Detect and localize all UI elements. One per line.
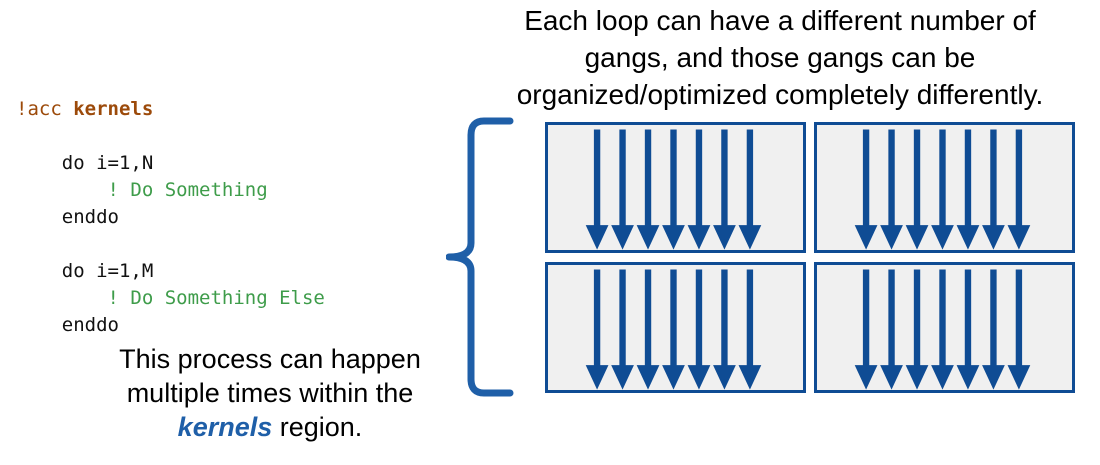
gang-heading: Each loop can have a different number of… xyxy=(462,2,1098,113)
gang-arrow xyxy=(688,270,711,390)
code-line: ! Do Something Else xyxy=(16,285,325,312)
gang-grid xyxy=(545,122,1075,394)
gang-heading-line-1: Each loop can have a different number of xyxy=(462,2,1098,39)
code-caption-line-1: This process can happen xyxy=(70,342,470,376)
code-token-directive-kw: kernels xyxy=(73,98,153,120)
gang-arrow xyxy=(957,270,980,390)
code-block: !acc kernels do i=1,N ! Do Something end… xyxy=(16,96,325,339)
gang-arrow xyxy=(982,130,1005,250)
code-token-plain: enddo xyxy=(16,206,119,228)
gang-arrow xyxy=(611,130,634,250)
left-curly-brace-icon xyxy=(446,116,516,398)
code-caption-line-3-rest: region. xyxy=(272,412,362,442)
gang-arrow-layer xyxy=(548,125,809,256)
gang-arrow xyxy=(982,270,1005,390)
gang-arrow xyxy=(906,270,929,390)
gang-arrow xyxy=(637,130,660,250)
code-line xyxy=(16,231,325,258)
gang-box-top-left xyxy=(545,122,806,253)
gang-arrow xyxy=(637,270,660,390)
gang-box-bottom-left xyxy=(545,262,806,393)
gang-arrow xyxy=(586,270,609,390)
code-token-comment: ! Do Something xyxy=(16,179,268,201)
gang-arrow xyxy=(662,130,685,250)
gang-arrow-layer xyxy=(817,125,1078,256)
gang-arrow xyxy=(931,130,954,250)
gang-box-bottom-right xyxy=(814,262,1075,393)
gang-arrow-layer xyxy=(817,265,1078,396)
gang-heading-line-2: gangs, and those gangs can be xyxy=(462,39,1098,76)
code-token-directive-mark: !acc xyxy=(16,98,73,120)
code-line: !acc kernels xyxy=(16,96,325,123)
gang-arrow xyxy=(957,130,980,250)
gang-arrow xyxy=(855,270,878,390)
kernels-keyword: kernels xyxy=(178,412,273,442)
gang-arrow-layer xyxy=(548,265,809,396)
code-line: enddo xyxy=(16,312,325,339)
gang-arrow xyxy=(611,270,634,390)
gang-arrow xyxy=(713,270,736,390)
gang-arrow xyxy=(1008,130,1031,250)
gang-arrow xyxy=(1008,270,1031,390)
gang-arrow xyxy=(739,270,762,390)
gang-arrow xyxy=(688,130,711,250)
gang-arrow xyxy=(906,130,929,250)
code-token-plain: do i=1,N xyxy=(16,152,153,174)
gang-arrow xyxy=(739,130,762,250)
gang-arrow xyxy=(662,270,685,390)
gang-arrow xyxy=(855,130,878,250)
gang-box-top-right xyxy=(814,122,1075,253)
code-token-comment: ! Do Something Else xyxy=(16,287,325,309)
gang-arrow xyxy=(713,130,736,250)
gang-arrow xyxy=(880,130,903,250)
code-line: enddo xyxy=(16,204,325,231)
gang-arrow xyxy=(931,270,954,390)
gang-arrow xyxy=(586,130,609,250)
code-line: ! Do Something xyxy=(16,177,325,204)
code-line: do i=1,N xyxy=(16,150,325,177)
gang-heading-line-3: organized/optimized completely different… xyxy=(462,76,1098,113)
code-line: do i=1,M xyxy=(16,258,325,285)
gang-arrow xyxy=(880,270,903,390)
code-caption-line-2: multiple times within the xyxy=(70,376,470,410)
code-caption-line-3: kernels region. xyxy=(70,410,470,444)
code-token-plain: enddo xyxy=(16,314,119,336)
code-line xyxy=(16,123,325,150)
code-caption: This process can happen multiple times w… xyxy=(70,342,470,444)
code-token-plain: do i=1,M xyxy=(16,260,153,282)
